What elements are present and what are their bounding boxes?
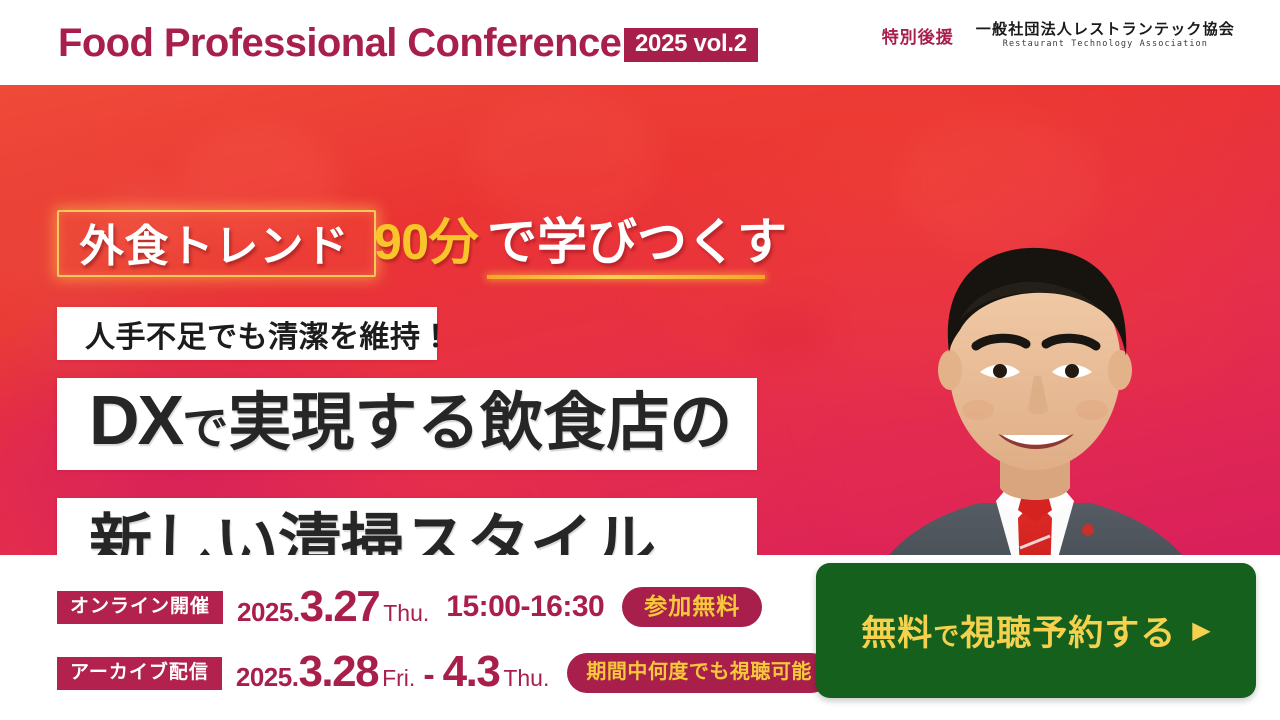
archive-end-dow: Thu.: [503, 665, 549, 692]
online-date-number: 3.27: [300, 586, 380, 628]
cta-label-mid: で: [933, 621, 960, 651]
archive-date-range: 2025. 3.28 Fri. - 4.3 Thu.: [236, 651, 549, 695]
play-arrow-icon: ▶: [1192, 619, 1210, 643]
online-day-of-week: Thu.: [383, 600, 429, 627]
sponsor-organization: 一般社団法人レストランテック協会 Restaurant Technology A…: [976, 22, 1235, 49]
page-header: Food Professional Conference 2025 vol.2 …: [0, 0, 1280, 85]
speaker-portrait: リ・プロダクツ株式会社 代表取締役 髙奥 要輔: [800, 170, 1270, 555]
title-line1: DXで実現する飲食店の: [89, 385, 732, 463]
page-title: Food Professional Conference: [58, 22, 621, 64]
cta-label-rest: 視聴予約する: [960, 614, 1176, 653]
title-de: で: [182, 402, 228, 454]
headline-minutes: 90分: [374, 211, 478, 273]
archive-start-date: 3.28: [298, 651, 378, 693]
title-plate-line2: 新しい清掃スタイル: [57, 498, 757, 555]
hero-banner: 外食トレンド 90分 で学びつくす 人手不足でも清潔を維持！ DXで実現する飲食…: [0, 85, 1280, 555]
title-line1-rest: 実現する飲食店の: [228, 388, 732, 458]
archive-tag: アーカイブ配信: [57, 657, 222, 690]
online-year: 2025.: [237, 597, 300, 628]
archive-start-dow: Fri.: [382, 665, 415, 692]
landing-page-banner: Food Professional Conference 2025 vol.2 …: [0, 0, 1280, 720]
headline-rest: で学びつくす: [487, 211, 787, 273]
free-admission-badge: 参加無料: [622, 587, 762, 627]
archive-date-dash: -: [423, 656, 434, 695]
title-line2: 新しい清掃スタイル: [89, 509, 656, 555]
sponsor-label: 特別後援: [882, 23, 954, 48]
sponsor-org-name-en: Restaurant Technology Association: [976, 40, 1235, 49]
volume-badge: 2025 vol.2: [624, 28, 758, 62]
sponsor-org-name-jp: 一般社団法人レストランテック協会: [976, 22, 1235, 38]
cta-label: 無料で視聴予約する: [861, 605, 1176, 656]
archive-end-date: 4.3: [443, 651, 500, 693]
online-date: 2025. 3.27 Thu.: [237, 586, 429, 628]
cta-label-main: 無料: [861, 614, 933, 653]
sponsor-block: 特別後援 一般社団法人レストランテック協会 Restaurant Technol…: [882, 22, 1235, 49]
free-reservation-button[interactable]: 無料で視聴予約する ▶: [816, 563, 1256, 698]
unlimited-viewing-badge: 期間中何度でも視聴可能: [567, 653, 831, 693]
subheading-plate: 人手不足でも清潔を維持！: [57, 307, 437, 360]
schedule-row-online: オンライン開催 2025. 3.27 Thu. 15:00-16:30 参加無料: [57, 586, 762, 628]
schedule-row-archive: アーカイブ配信 2025. 3.28 Fri. - 4.3 Thu. 期間中何度…: [57, 651, 831, 695]
online-time: 15:00-16:30: [446, 590, 604, 624]
keyword-highlight-text: 外食トレンド: [68, 212, 361, 272]
subheading-text: 人手不足でも清潔を維持！: [85, 312, 451, 356]
title-dx: DX: [89, 381, 182, 459]
online-tag: オンライン開催: [57, 591, 223, 624]
speaker-photo-illustration: [800, 170, 1270, 555]
archive-year: 2025.: [236, 662, 299, 693]
title-plate-line1: DXで実現する飲食店の: [57, 378, 757, 470]
headline-underline: [487, 275, 765, 279]
